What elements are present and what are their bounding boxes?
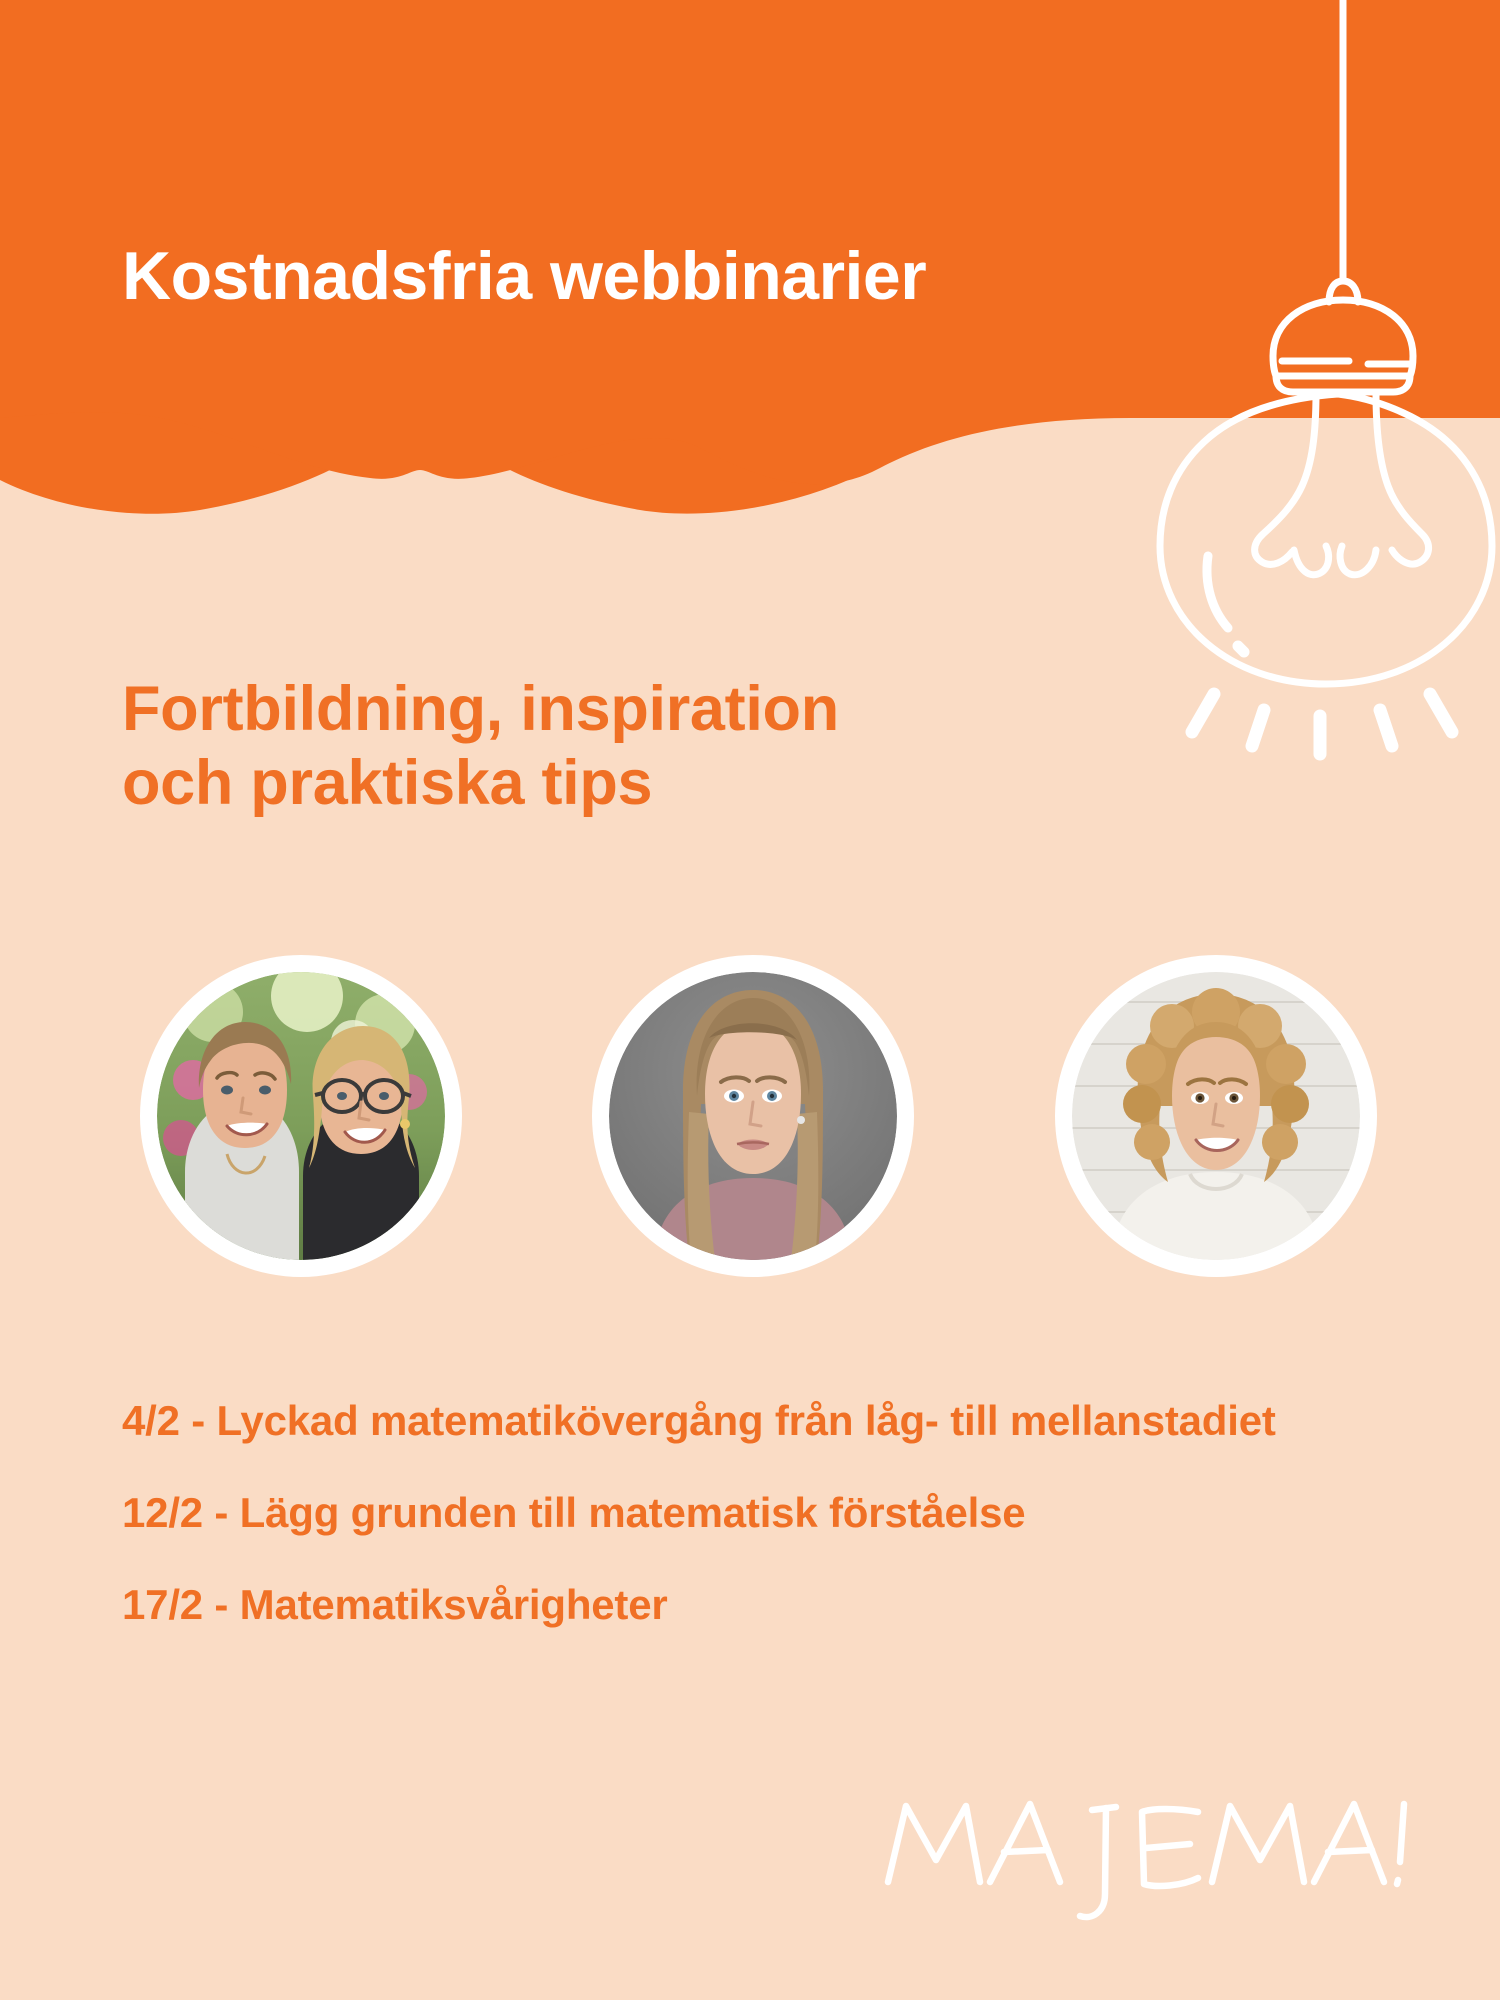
portrait-image-2 [609,972,897,1260]
portrait-image-3 [1072,972,1360,1260]
list-item[interactable]: 12/2 - Lägg grunden till matematisk förs… [122,1484,1352,1542]
headline-line-2: och praktiska tips [122,747,1202,821]
avatar [592,955,914,1277]
portrait-photo-2 [609,972,897,1260]
webinar-poster: Kostnadsfria webbinarier [0,0,1500,2000]
headline: Fortbildning, inspiration och praktiska … [122,673,1202,820]
speaker-portrait-row [0,955,1500,1295]
page-title: Kostnadsfria webbinarier [122,242,926,310]
headline-line-1: Fortbildning, inspiration [122,673,1202,747]
avatar [140,955,462,1277]
list-item[interactable]: 4/2 - Lyckad matematikövergång från låg-… [122,1392,1352,1450]
majema-logo [880,1790,1420,1930]
portrait-photo-1 [157,972,445,1260]
portrait-image-1 [157,972,445,1260]
avatar [1055,955,1377,1277]
list-item[interactable]: 17/2 - Matematiksvårigheter [122,1576,1352,1634]
webinar-list: 4/2 - Lyckad matematikövergång från låg-… [122,1392,1352,1634]
portrait-photo-3 [1072,972,1360,1260]
